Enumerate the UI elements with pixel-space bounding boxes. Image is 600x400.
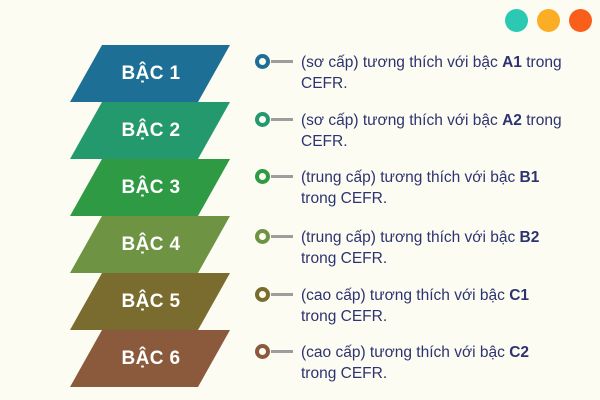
level-plate-label: BẬC 4 <box>121 234 180 256</box>
ring-marker-icon <box>255 169 270 184</box>
connector-line <box>271 293 293 296</box>
level-plate-label: BẬC 3 <box>121 177 180 199</box>
cefr-level-code: A2 <box>502 112 522 129</box>
marker-group <box>255 110 293 127</box>
level-plate-1[interactable]: BẬC 1 <box>70 45 230 102</box>
level-plate-label: BẬC 1 <box>121 63 180 85</box>
connector-line <box>271 235 293 238</box>
connector-line <box>271 118 293 121</box>
connector-line <box>271 60 293 63</box>
desc-prefix: (cao cấp) tương thích với bậc <box>301 344 509 361</box>
connector-line <box>271 175 293 178</box>
cefr-level-code: C1 <box>509 287 529 304</box>
level-description-text: (trung cấp) tương thích với bậc B1 trong… <box>301 167 566 209</box>
level-description-text: (cao cấp) tương thích với bậc C1 trong C… <box>301 285 566 327</box>
level-description-text: (sơ cấp) tương thích với bậc A2 trong CE… <box>301 110 566 152</box>
level-description-text: (trung cấp) tương thích với bậc B2 trong… <box>301 227 566 269</box>
cefr-level-code: B2 <box>520 229 540 246</box>
infographic-canvas: BẬC 1BẬC 2BẬC 3BẬC 4BẬC 5BẬC 6 (sơ cấp) … <box>0 0 600 400</box>
level-description-item-3[interactable]: (trung cấp) tương thích với bậc B1 trong… <box>255 167 600 209</box>
level-plate-label: BẬC 5 <box>121 291 180 313</box>
ring-marker-icon <box>255 54 270 69</box>
connector-line <box>271 350 293 353</box>
ring-marker-icon <box>255 344 270 359</box>
desc-prefix: (trung cấp) tương thích với bậc <box>301 229 520 246</box>
desc-suffix: trong CEFR. <box>301 250 387 267</box>
desc-suffix: trong CEFR. <box>301 190 387 207</box>
level-description-text: (cao cấp) tương thích với bậc C2 trong C… <box>301 342 566 384</box>
cefr-level-code: C2 <box>509 344 529 361</box>
desc-prefix: (sơ cấp) tương thích với bậc <box>301 54 502 71</box>
level-plate-5[interactable]: BẬC 5 <box>70 273 230 330</box>
level-pyramid-stack: BẬC 1BẬC 2BẬC 3BẬC 4BẬC 5BẬC 6 <box>0 0 250 400</box>
level-plate-6[interactable]: BẬC 6 <box>70 330 230 387</box>
level-plate-2[interactable]: BẬC 2 <box>70 102 230 159</box>
level-description-item-6[interactable]: (cao cấp) tương thích với bậc C2 trong C… <box>255 342 600 384</box>
ring-marker-icon <box>255 287 270 302</box>
level-plate-label: BẬC 6 <box>121 348 180 370</box>
cefr-level-code: A1 <box>502 54 522 71</box>
ring-marker-icon <box>255 229 270 244</box>
ring-marker-icon <box>255 112 270 127</box>
desc-prefix: (trung cấp) tương thích với bậc <box>301 169 520 186</box>
marker-group <box>255 285 293 302</box>
level-plate-4[interactable]: BẬC 4 <box>70 216 230 273</box>
desc-suffix: trong CEFR. <box>301 308 387 325</box>
level-description-item-5[interactable]: (cao cấp) tương thích với bậc C1 trong C… <box>255 285 600 327</box>
level-description-item-1[interactable]: (sơ cấp) tương thích với bậc A1 trong CE… <box>255 52 600 94</box>
marker-group <box>255 52 293 69</box>
level-plate-3[interactable]: BẬC 3 <box>70 159 230 216</box>
marker-group <box>255 342 293 359</box>
desc-prefix: (sơ cấp) tương thích với bậc <box>301 112 502 129</box>
level-description-item-2[interactable]: (sơ cấp) tương thích với bậc A2 trong CE… <box>255 110 600 152</box>
level-description-text: (sơ cấp) tương thích với bậc A1 trong CE… <box>301 52 566 94</box>
desc-prefix: (cao cấp) tương thích với bậc <box>301 287 509 304</box>
cefr-level-code: B1 <box>520 169 540 186</box>
desc-suffix: trong CEFR. <box>301 365 387 382</box>
level-description-list: (sơ cấp) tương thích với bậc A1 trong CE… <box>255 0 600 400</box>
marker-group <box>255 167 293 184</box>
level-description-item-4[interactable]: (trung cấp) tương thích với bậc B2 trong… <box>255 227 600 269</box>
marker-group <box>255 227 293 244</box>
level-plate-label: BẬC 2 <box>121 120 180 142</box>
